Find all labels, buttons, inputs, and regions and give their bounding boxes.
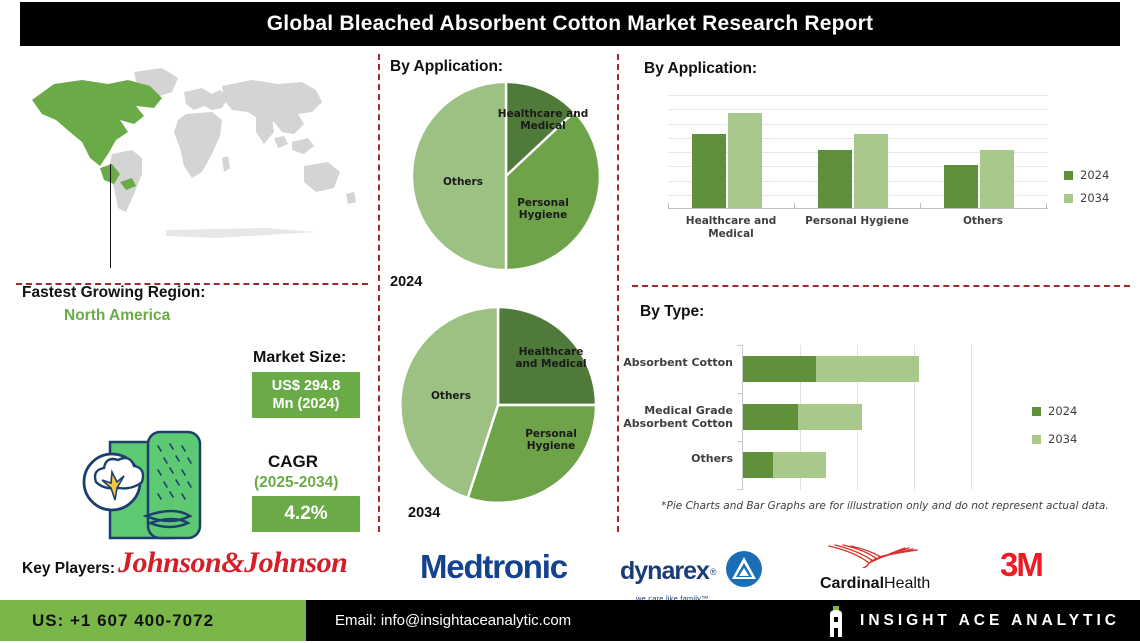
medtronic-wordmark: Medtronic — [420, 548, 567, 586]
cotton-roll-icon — [70, 424, 220, 556]
bar-group-healthcare — [678, 94, 778, 208]
fastest-growing-region-label: Fastest Growing Region: — [22, 284, 205, 302]
footer-brand-name: INSIGHT ACE ANALYTIC — [860, 612, 1120, 630]
cagr-label: CAGR — [268, 452, 318, 472]
bar-hygiene-2034 — [854, 134, 888, 208]
insight-ace-logo-icon — [826, 606, 846, 636]
bar-group-hygiene — [804, 94, 904, 208]
legend-type-label-2024: 2024 — [1048, 404, 1077, 418]
logo-cardinal-health: CardinalHealth — [820, 542, 930, 593]
left-panel: Fastest Growing Region: North America Ma — [8, 52, 370, 530]
page-title: Global Bleached Absorbent Cotton Market … — [267, 12, 874, 36]
bar-healthcare-2034 — [728, 113, 762, 208]
legend-type-item-2024: 2024 — [1032, 404, 1077, 418]
legend-swatch-2024 — [1064, 171, 1073, 180]
legend-label-2034: 2034 — [1080, 191, 1109, 205]
footer-phone[interactable]: US: +1 607 400-7072 — [32, 611, 214, 631]
hbar-row-medical-grade: Medical Grade Absorbent Cotton — [743, 404, 862, 430]
legend-label-2024: 2024 — [1080, 168, 1109, 182]
bar-plot-area — [668, 95, 1048, 209]
johnson-and-johnson-wordmark: Johnson&Johnson — [118, 546, 347, 580]
legend-type-swatch-2034 — [1032, 435, 1041, 444]
world-map — [16, 62, 368, 242]
market-size-label: Market Size: — [253, 349, 346, 367]
pie-2034-label-hygiene: Personal Hygiene — [512, 428, 590, 453]
divider-horizontal-right — [632, 285, 1130, 287]
map-pointer-line — [110, 164, 111, 268]
pie-2024-label-others: Others — [432, 176, 494, 188]
logo-johnson-and-johnson: Johnson&Johnson — [118, 546, 347, 580]
legend-type-item-2034: 2034 — [1032, 432, 1077, 446]
dynarex-wordmark: dynarex — [620, 557, 709, 586]
bar-others-2034 — [980, 150, 1014, 208]
market-size-text: US$ 294.8 Mn (2024) — [272, 377, 341, 413]
hbar-medical-grade-2034 — [798, 404, 862, 430]
bar-hygiene-2024 — [818, 150, 852, 208]
dynarex-triangle-icon — [725, 550, 763, 593]
legend-type-swatch-2024 — [1032, 407, 1041, 416]
pie-2024-label-healthcare: Healthcare and Medical — [494, 108, 592, 133]
hbar-row-others: Others — [743, 452, 826, 478]
pie-section-title: By Application: — [390, 58, 503, 76]
report-header: Global Bleached Absorbent Cotton Market … — [20, 2, 1120, 46]
bar-others-2024 — [944, 165, 978, 208]
legend-swatch-2034 — [1064, 194, 1073, 203]
logo-3m: 3M — [1000, 546, 1042, 584]
chart-footnote: *Pie Charts and Bar Graphs are for illus… — [650, 500, 1120, 512]
footer-brand: INSIGHT ACE ANALYTIC — [826, 600, 1120, 641]
hbar-category-absorbent-cotton: Absorbent Cotton — [608, 356, 743, 369]
pie-2034-label-healthcare: Healthcare and Medical — [508, 346, 594, 371]
hbar-absorbent-cotton-2034 — [816, 356, 919, 382]
legend-type-label-2034: 2034 — [1048, 432, 1077, 446]
bar-category-others: Others — [928, 215, 1038, 228]
cardinal-bold: Cardinal — [820, 575, 884, 592]
hbar-row-absorbent-cotton: Absorbent Cotton — [743, 356, 919, 382]
pie-chart-2034 — [398, 305, 598, 505]
dynarex-trademark-icon: ® — [710, 567, 717, 577]
bar-category-healthcare: Healthcare and Medical — [676, 215, 786, 240]
legend-item-2024: 2024 — [1064, 168, 1109, 182]
pie-2034-label-others: Others — [420, 390, 482, 402]
hbar-category-others: Others — [608, 452, 743, 465]
three-m-wordmark: 3M — [1000, 546, 1042, 584]
bar-category-hygiene: Personal Hygiene — [802, 215, 912, 228]
logo-dynarex: dynarex ® we care like family™ — [620, 550, 763, 603]
cagr-years: (2025-2034) — [254, 474, 338, 492]
footer-bar: US: +1 607 400-7072 Email: info@insighta… — [0, 600, 1140, 641]
bar-type-title: By Type: — [640, 303, 704, 321]
hbar-others-2034 — [773, 452, 826, 478]
bar-group-others — [930, 94, 1030, 208]
legend-item-2034: 2034 — [1064, 191, 1109, 205]
hbar-absorbent-cotton-2024 — [743, 356, 816, 382]
pie-2034-year: 2034 — [408, 505, 440, 521]
bar-healthcare-2024 — [692, 134, 726, 208]
fastest-growing-region-value: North America — [64, 307, 170, 325]
footer-email[interactable]: Email: info@insightaceanalytic.com — [335, 600, 571, 641]
logo-medtronic: Medtronic — [420, 548, 567, 586]
key-players-label: Key Players: — [22, 560, 115, 578]
bar-chart-by-application: Healthcare and Medical Personal Hygiene … — [668, 95, 1048, 215]
hbar-others-2024 — [743, 452, 773, 478]
hbar-medical-grade-2024 — [743, 404, 798, 430]
market-size-value: US$ 294.8 Mn (2024) — [252, 372, 360, 418]
health-light: Health — [884, 575, 930, 592]
hbar-plot-area: Absorbent Cotton Medical Grade Absorbent… — [742, 345, 970, 490]
divider-vertical-left — [378, 54, 380, 532]
hbar-category-medical-grade: Medical Grade Absorbent Cotton — [608, 404, 743, 430]
legend-by-application: 2024 2034 — [1064, 168, 1109, 214]
pie-2024-year: 2024 — [390, 274, 422, 290]
bar-chart-by-type: Absorbent Cotton Medical Grade Absorbent… — [742, 345, 970, 490]
legend-by-type: 2024 2034 — [1032, 404, 1077, 455]
footer-phone-block: US: +1 607 400-7072 — [0, 600, 306, 641]
bar-application-title: By Application: — [644, 60, 757, 78]
pie-2024-label-hygiene: Personal Hygiene — [504, 197, 582, 222]
cardinal-bird-icon — [821, 542, 929, 573]
cagr-value: 4.2% — [252, 496, 360, 532]
dynarex-row: dynarex ® — [620, 550, 763, 593]
cardinal-health-wordmark: CardinalHealth — [820, 575, 930, 593]
